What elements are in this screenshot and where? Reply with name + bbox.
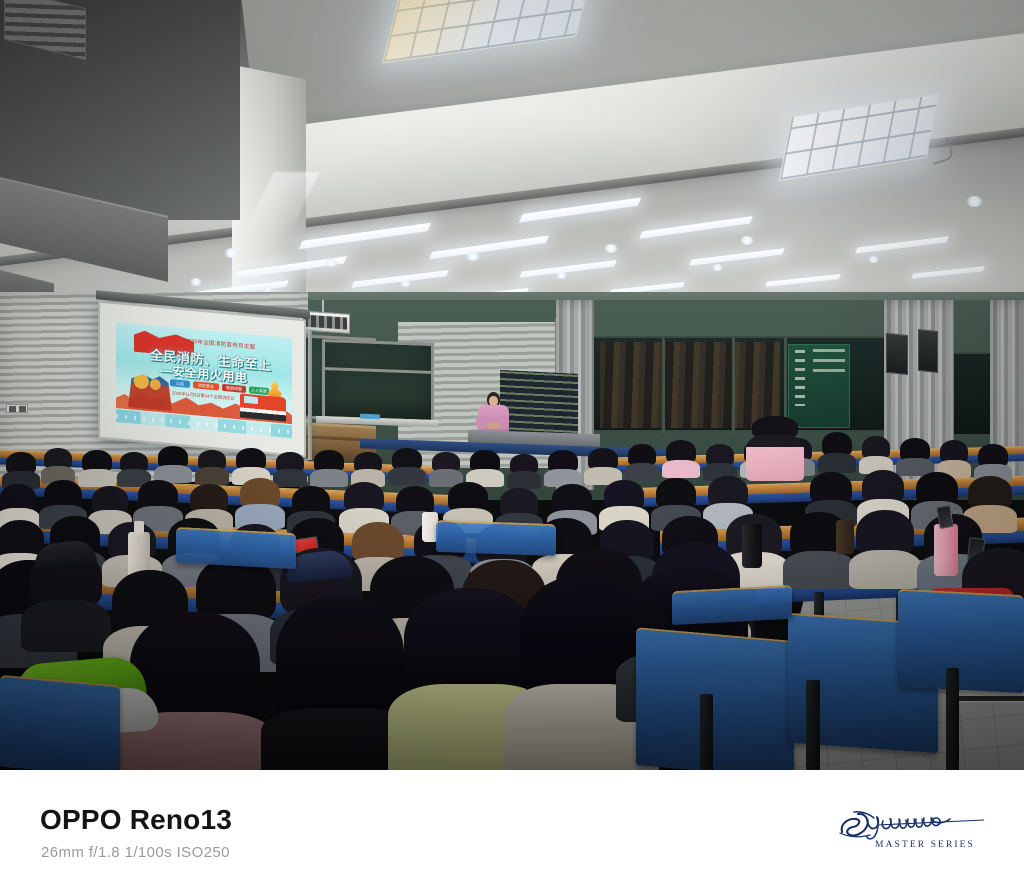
audience-person (856, 510, 914, 586)
seat-leg (946, 668, 959, 770)
lecture-seat[interactable] (898, 589, 1024, 694)
exif-info: 26mm f/1.8 1/100s ISO250 (41, 844, 230, 861)
audience-person (862, 436, 890, 472)
audience-person (44, 448, 72, 482)
audience-person (158, 446, 188, 480)
audience-person (822, 432, 852, 470)
screenshot-root: 2025年全国消防宣传月主题 全民消防、生命至上 —安全用火用电 公益 消防安全… (0, 0, 1024, 896)
stay-curious-script-icon (834, 806, 984, 840)
slide-tag: 隐患排查 (222, 384, 246, 393)
presenter-arm (476, 416, 487, 429)
audience-person (432, 452, 460, 484)
wall-grid-panel (500, 370, 578, 438)
master-series-logo: MASTER SERIES (834, 806, 984, 858)
audience-person (82, 450, 112, 484)
slide-tag: 消防安全 (193, 381, 219, 390)
lecture-seat[interactable] (176, 527, 296, 569)
slide-tag: 公益 (170, 379, 190, 388)
window-far (952, 352, 994, 436)
audience-person (240, 478, 280, 526)
window (590, 336, 890, 432)
audience-person-nearest (130, 612, 260, 770)
master-series-label: MASTER SERIES (866, 840, 984, 850)
audience-person-nearest (276, 596, 404, 770)
projection-screen: 2025年全国消防宣传月主题 全民消防、生命至上 —安全用火用电 公益 消防安全… (98, 301, 306, 458)
chalk-box (360, 414, 380, 420)
audience-person-standing (752, 416, 798, 480)
audience-person (706, 444, 734, 478)
lecture-seat[interactable] (672, 585, 792, 625)
camera-watermark-bar: OPPO Reno13 26mm f/1.8 1/100s ISO250 (0, 770, 1024, 896)
lecture-seat[interactable] (436, 520, 556, 556)
audience-person (628, 444, 656, 478)
audience-person (940, 440, 968, 476)
audience-person (6, 452, 36, 486)
room-interior: 2025年全国消防宣传月主题 全民消防、生命至上 —安全用火用电 公益 消防安全… (0, 0, 1024, 770)
light-switch[interactable] (6, 404, 28, 413)
audience-person (588, 448, 618, 482)
audience-person (470, 450, 500, 484)
audience-person (900, 438, 930, 474)
audience-person (314, 450, 344, 484)
audience-person (236, 448, 266, 482)
coffee-cup (836, 520, 854, 554)
device-name: OPPO Reno13 (40, 804, 232, 836)
wall-speaker-icon (918, 329, 938, 373)
seat-leg (700, 694, 713, 770)
audience-person (198, 450, 226, 482)
water-bottle (742, 524, 762, 568)
window-mullion (662, 338, 665, 434)
seat-leg (806, 680, 820, 770)
support-pole (308, 330, 312, 460)
presenter-hands (487, 422, 500, 429)
lecture-seat[interactable] (636, 627, 794, 770)
lecture-seat[interactable] (0, 675, 120, 770)
audience-person (276, 452, 304, 484)
audience-person (392, 448, 422, 482)
window-mullion (732, 338, 735, 434)
water-bottle (934, 524, 958, 576)
fire-truck-icon (240, 393, 286, 421)
audience-person (978, 444, 1008, 480)
audience-person (548, 450, 578, 484)
audience-person (510, 454, 538, 486)
photograph: 2025年全国消防宣传月主题 全民消防、生命至上 —安全用火用电 公益 消防安全… (0, 0, 1024, 770)
presentation-slide: 2025年全国消防宣传月主题 全民消防、生命至上 —安全用火用电 公益 消防安全… (116, 322, 292, 438)
wall-speaker-icon (886, 333, 908, 375)
audience-person (666, 440, 696, 476)
audience-person (354, 452, 382, 484)
